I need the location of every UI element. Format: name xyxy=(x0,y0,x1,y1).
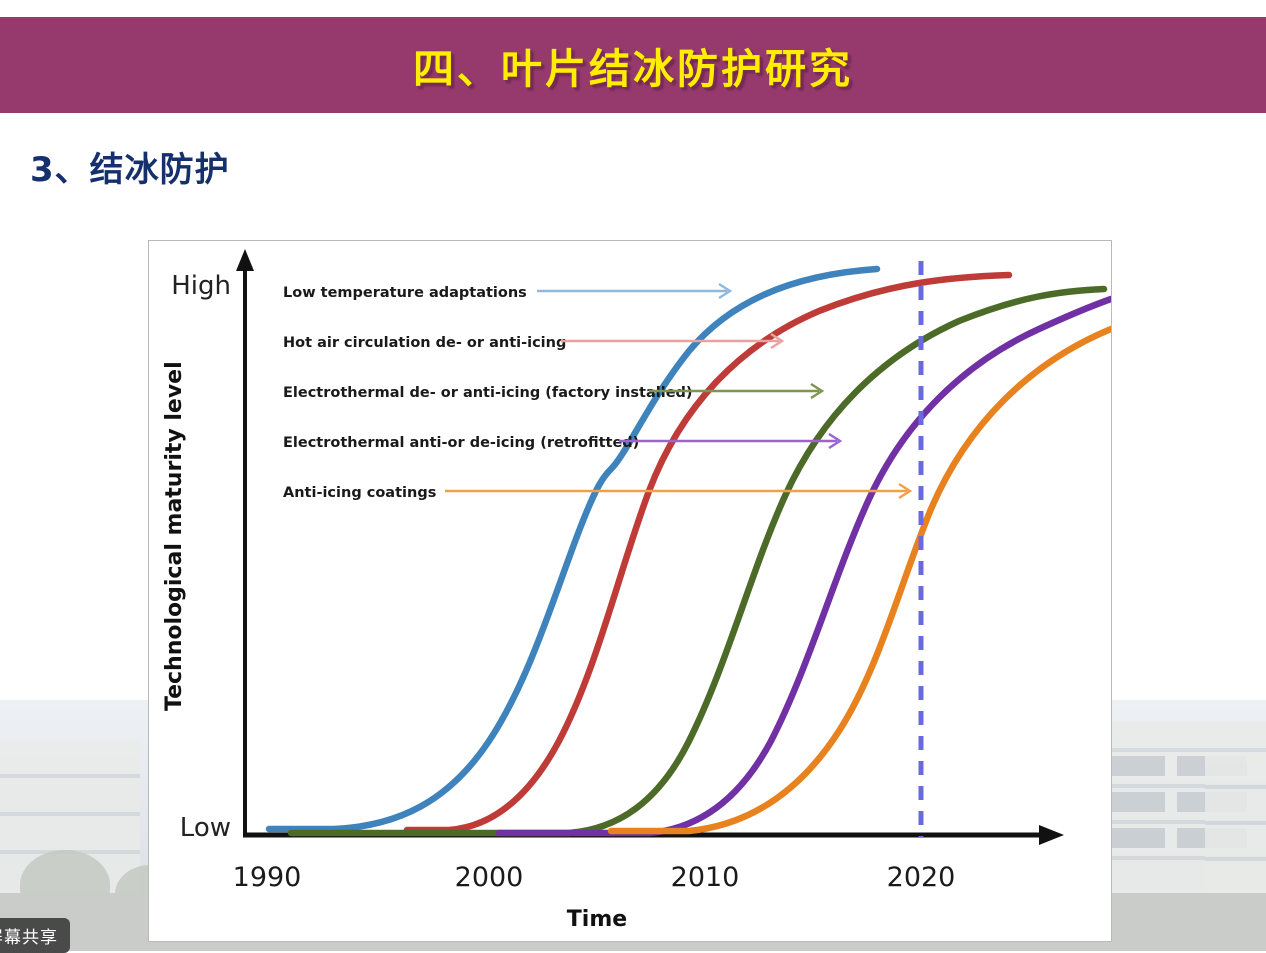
x-tick-1990: 1990 xyxy=(233,862,302,893)
chart-legend: Low temperature adaptations Hot air circ… xyxy=(283,284,910,501)
curve-low-temperature-adaptations xyxy=(269,269,877,829)
legend-label-1: Hot air circulation de- or anti-icing xyxy=(283,335,566,351)
legend-item-hot-air-circulation: Hot air circulation de- or anti-icing xyxy=(283,334,782,351)
curve-electrothermal-factory xyxy=(291,289,1104,833)
technology-maturity-chart: High Low Technological maturity level 19… xyxy=(149,241,1111,941)
x-tick-2000: 2000 xyxy=(455,862,524,893)
y-tick-high: High xyxy=(171,271,231,301)
legend-item-electrothermal-retrofitted: Electrothermal anti-or de-icing (retrofi… xyxy=(283,434,840,451)
curve-electrothermal-retrofitted xyxy=(499,299,1111,833)
page-title: 四、叶片结冰防护研究 xyxy=(413,35,853,95)
legend-label-2: Electrothermal de- or anti-icing (factor… xyxy=(283,385,693,401)
screen-share-watermark: 电的屏幕共享 xyxy=(0,918,70,953)
y-tick-low: Low xyxy=(180,813,231,843)
x-axis-label: Time xyxy=(567,907,627,932)
legend-item-electrothermal-factory: Electrothermal de- or anti-icing (factor… xyxy=(283,384,822,401)
legend-label-3: Electrothermal anti-or de-icing (retrofi… xyxy=(283,435,639,451)
legend-item-low-temperature-adaptations: Low temperature adaptations xyxy=(283,284,730,301)
legend-label-0: Low temperature adaptations xyxy=(283,285,527,301)
chart-panel: High Low Technological maturity level 19… xyxy=(148,240,1112,942)
x-tick-2020: 2020 xyxy=(887,862,956,893)
chart-curves xyxy=(269,269,1111,833)
curve-anti-icing-coatings xyxy=(611,329,1111,831)
legend-label-4: Anti-icing coatings xyxy=(283,485,436,501)
photo-building-far-right xyxy=(1205,755,1266,905)
section-subtitle: 3、结冰防护 xyxy=(30,142,230,191)
x-tick-2010: 2010 xyxy=(671,862,740,893)
title-banner: 四、叶片结冰防护研究 xyxy=(0,17,1266,113)
y-axis-label: Technological maturity level xyxy=(162,361,187,711)
